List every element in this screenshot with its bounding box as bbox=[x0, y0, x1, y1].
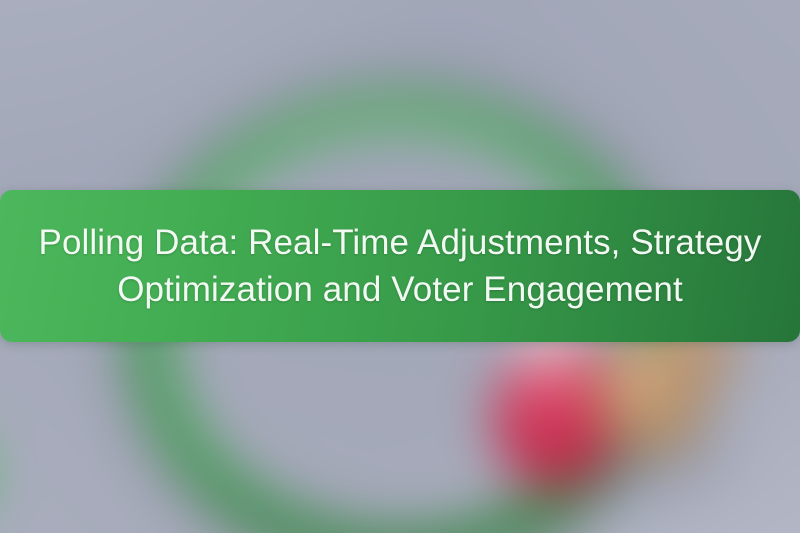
title-line-2: Optimization and Voter Engagement bbox=[117, 266, 683, 313]
title-banner: Polling Data: Real-Time Adjustments, Str… bbox=[0, 190, 800, 342]
title-line-1: Polling Data: Real-Time Adjustments, Str… bbox=[39, 219, 762, 266]
banner-graphic: Polling Data: Real-Time Adjustments, Str… bbox=[0, 0, 800, 533]
